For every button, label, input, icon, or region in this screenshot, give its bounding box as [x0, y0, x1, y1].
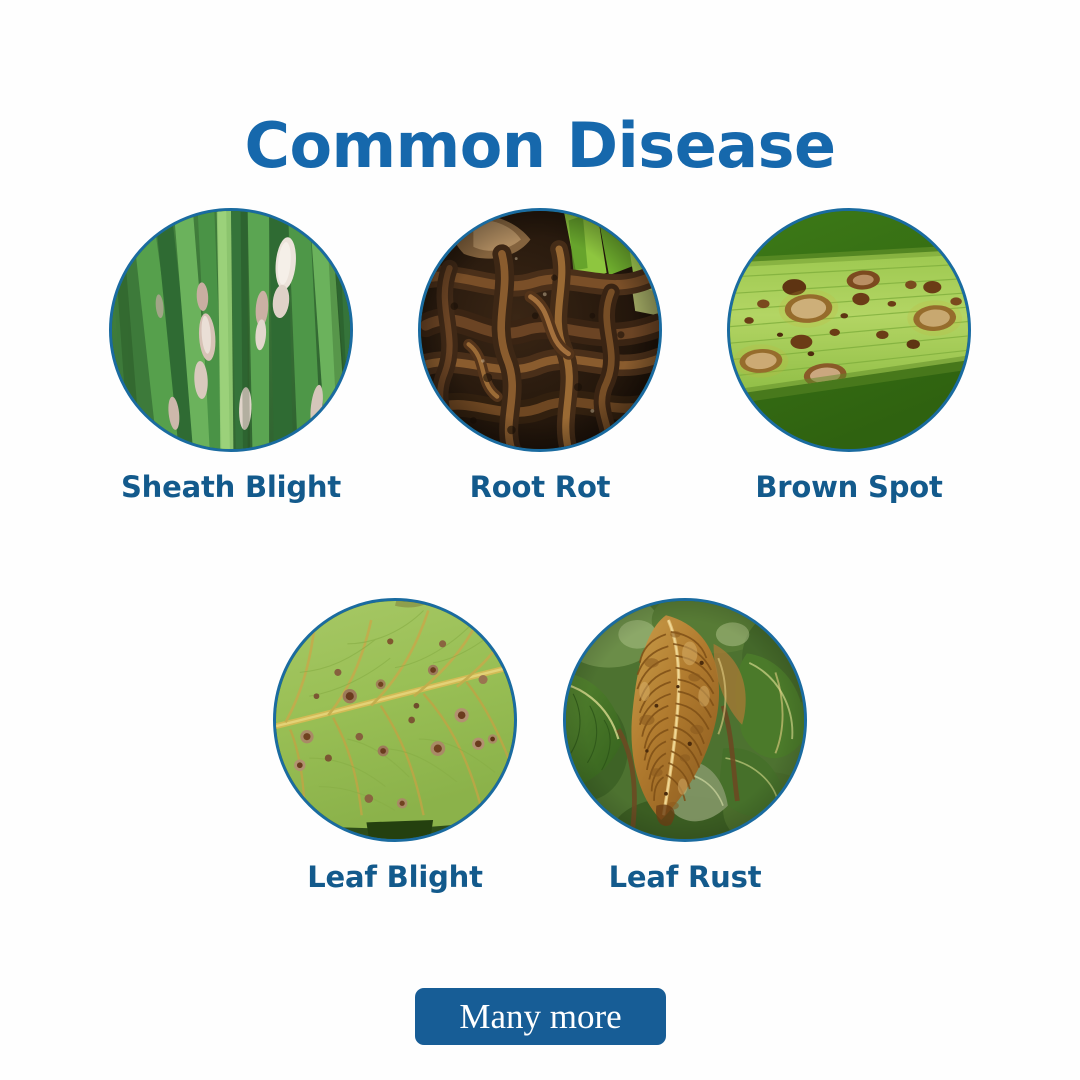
disease-card-root-rot[interactable]: Root Rot [418, 208, 662, 504]
disease-row-1: Sheath Blight [0, 208, 1080, 504]
many-more-button[interactable]: Many more [415, 988, 666, 1045]
poster-canvas: Common Disease [0, 0, 1080, 1080]
disease-label: Root Rot [470, 470, 611, 504]
disease-card-leaf-blight[interactable]: Leaf Blight [273, 598, 517, 894]
page-title: Common Disease [0, 112, 1080, 180]
disease-label: Leaf Blight [307, 860, 482, 894]
leaf-blight-photo[interactable] [273, 598, 517, 842]
root-rot-photo[interactable] [418, 208, 662, 452]
disease-label: Sheath Blight [121, 470, 341, 504]
disease-row-2: Leaf Blight [0, 598, 1080, 894]
brown-spot-photo[interactable] [727, 208, 971, 452]
disease-label: Brown Spot [755, 470, 942, 504]
disease-card-leaf-rust[interactable]: Leaf Rust [563, 598, 807, 894]
disease-card-sheath-blight[interactable]: Sheath Blight [109, 208, 353, 504]
leaf-rust-photo[interactable] [563, 598, 807, 842]
disease-label: Leaf Rust [609, 860, 762, 894]
sheath-blight-photo[interactable] [109, 208, 353, 452]
disease-card-brown-spot[interactable]: Brown Spot [727, 208, 971, 504]
